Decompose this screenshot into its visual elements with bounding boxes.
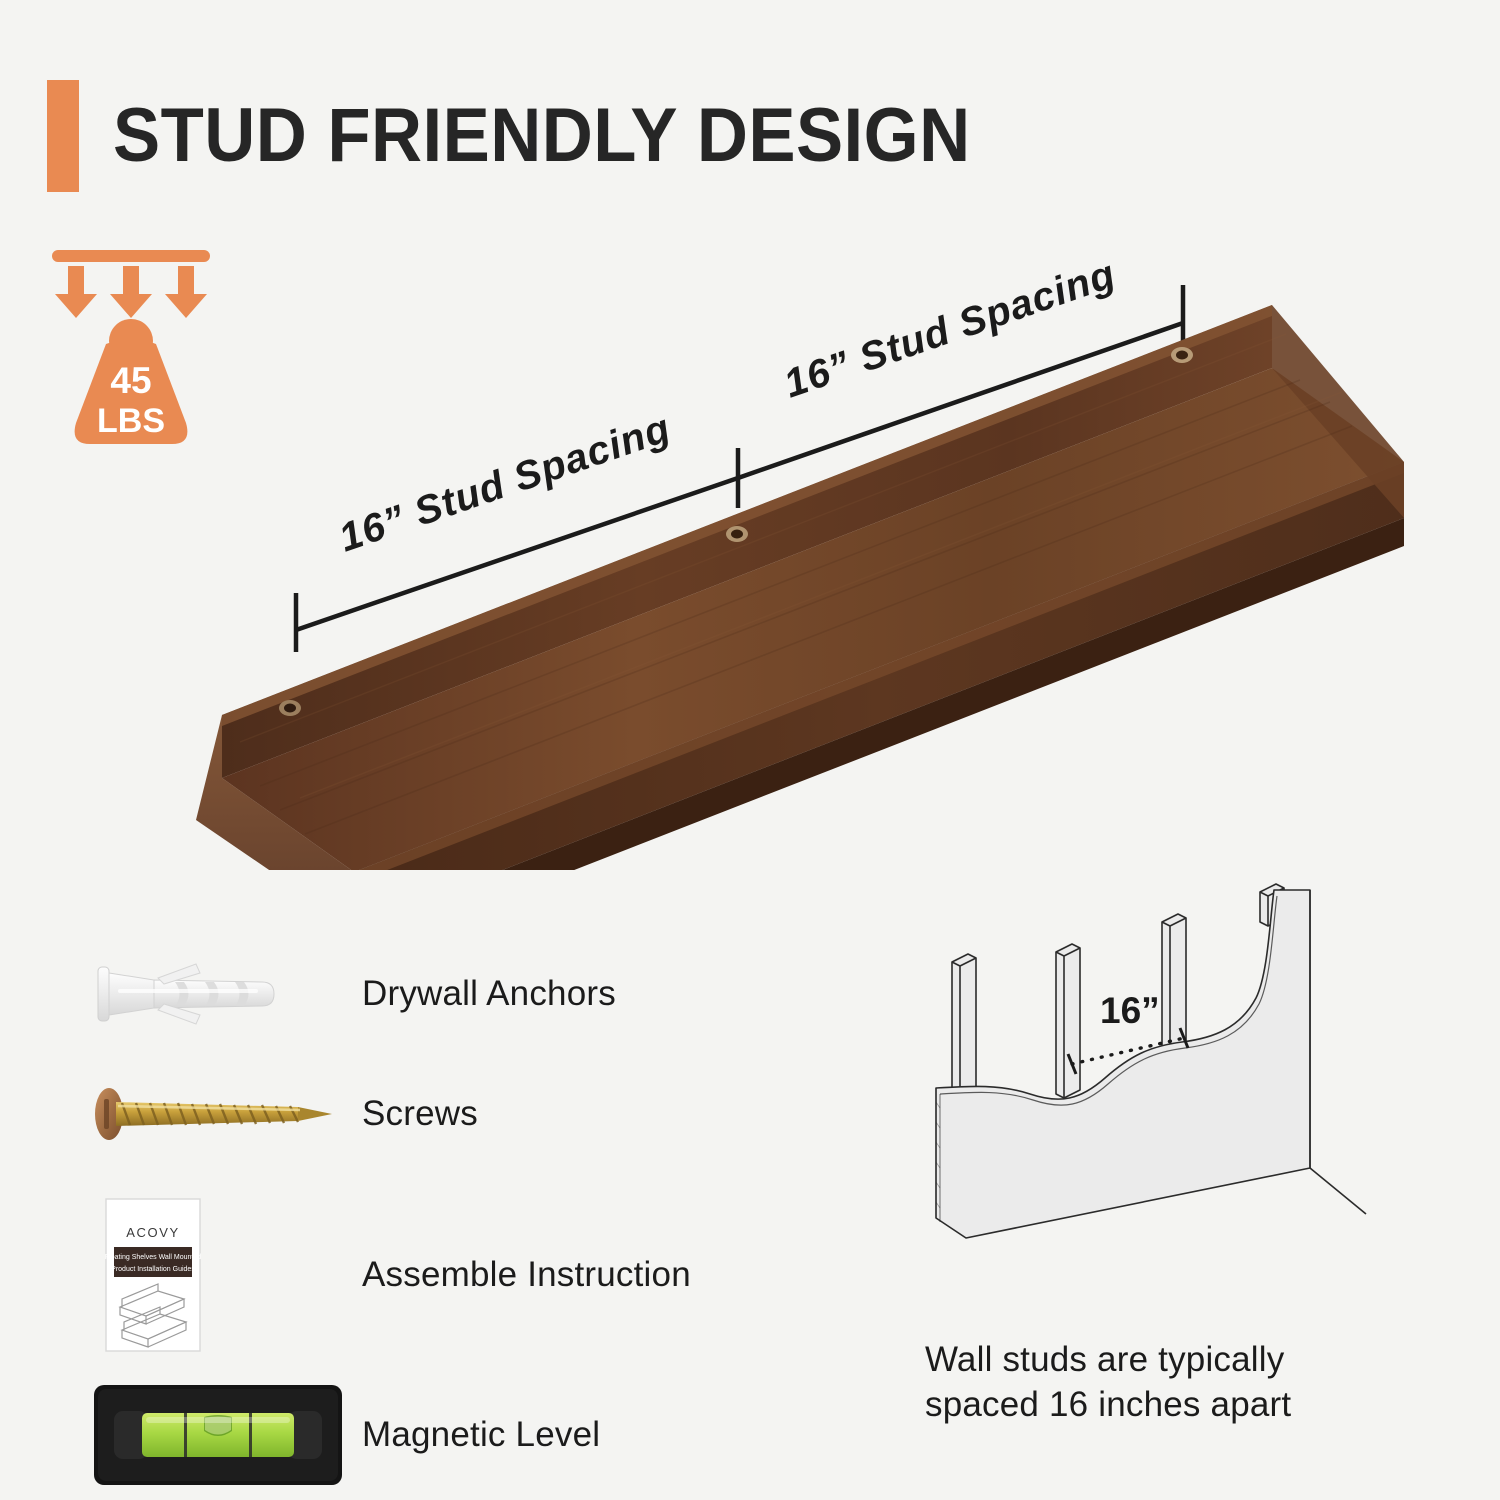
dimension-16-label: 16” — [1100, 990, 1160, 1031]
infographic-page: STUD FRIENDLY DESIGN 45 LBS — [0, 0, 1500, 1500]
accessory-label: Magnetic Level — [362, 1415, 600, 1455]
hero-shelf-illustration: 16” Stud Spacing 16” Stud Spacing — [0, 230, 1460, 870]
screw-icon — [92, 1079, 362, 1149]
list-item: ACOVY Floating Shelves Wall Mounted Prod… — [92, 1175, 852, 1375]
screw-hole — [1171, 347, 1193, 363]
drywall-sheet — [936, 890, 1310, 1238]
booklet-line2: Product Installation Guides — [111, 1266, 195, 1273]
stud-diagram-caption: Wall studs are typically spaced 16 inche… — [925, 1338, 1395, 1428]
dimension-label-left: 16” Stud Spacing — [334, 406, 677, 561]
screw-hole — [279, 700, 301, 716]
list-item: Magnetic Level — [92, 1375, 852, 1495]
page-title: STUD FRIENDLY DESIGN — [113, 98, 971, 174]
accessory-list: Drywall Anchors — [92, 935, 852, 1495]
wall-stud — [952, 954, 976, 1096]
instruction-booklet-icon: ACOVY Floating Shelves Wall Mounted Prod… — [92, 1195, 362, 1355]
caption-line-1: Wall studs are typically — [925, 1338, 1395, 1383]
accent-bar — [47, 80, 79, 192]
wall-stud — [1056, 944, 1080, 1098]
accessory-label: Drywall Anchors — [362, 974, 616, 1014]
wall-stud-diagram: 16” — [900, 878, 1400, 1298]
screw-hole — [726, 526, 748, 542]
accessory-label: Screws — [362, 1094, 478, 1134]
list-item: Screws — [92, 1053, 852, 1175]
page-header: STUD FRIENDLY DESIGN — [47, 80, 1035, 192]
magnetic-level-icon — [92, 1381, 362, 1489]
caption-line-2: spaced 16 inches apart — [925, 1383, 1395, 1428]
booklet-line1: Floating Shelves Wall Mounted — [105, 1254, 201, 1261]
dimension-label-right: 16” Stud Spacing — [779, 252, 1122, 407]
booklet-brand: ACOVY — [126, 1225, 180, 1240]
accessory-label: Assemble Instruction — [362, 1255, 691, 1295]
list-item: Drywall Anchors — [92, 935, 852, 1053]
drywall-anchor-icon — [92, 951, 362, 1037]
